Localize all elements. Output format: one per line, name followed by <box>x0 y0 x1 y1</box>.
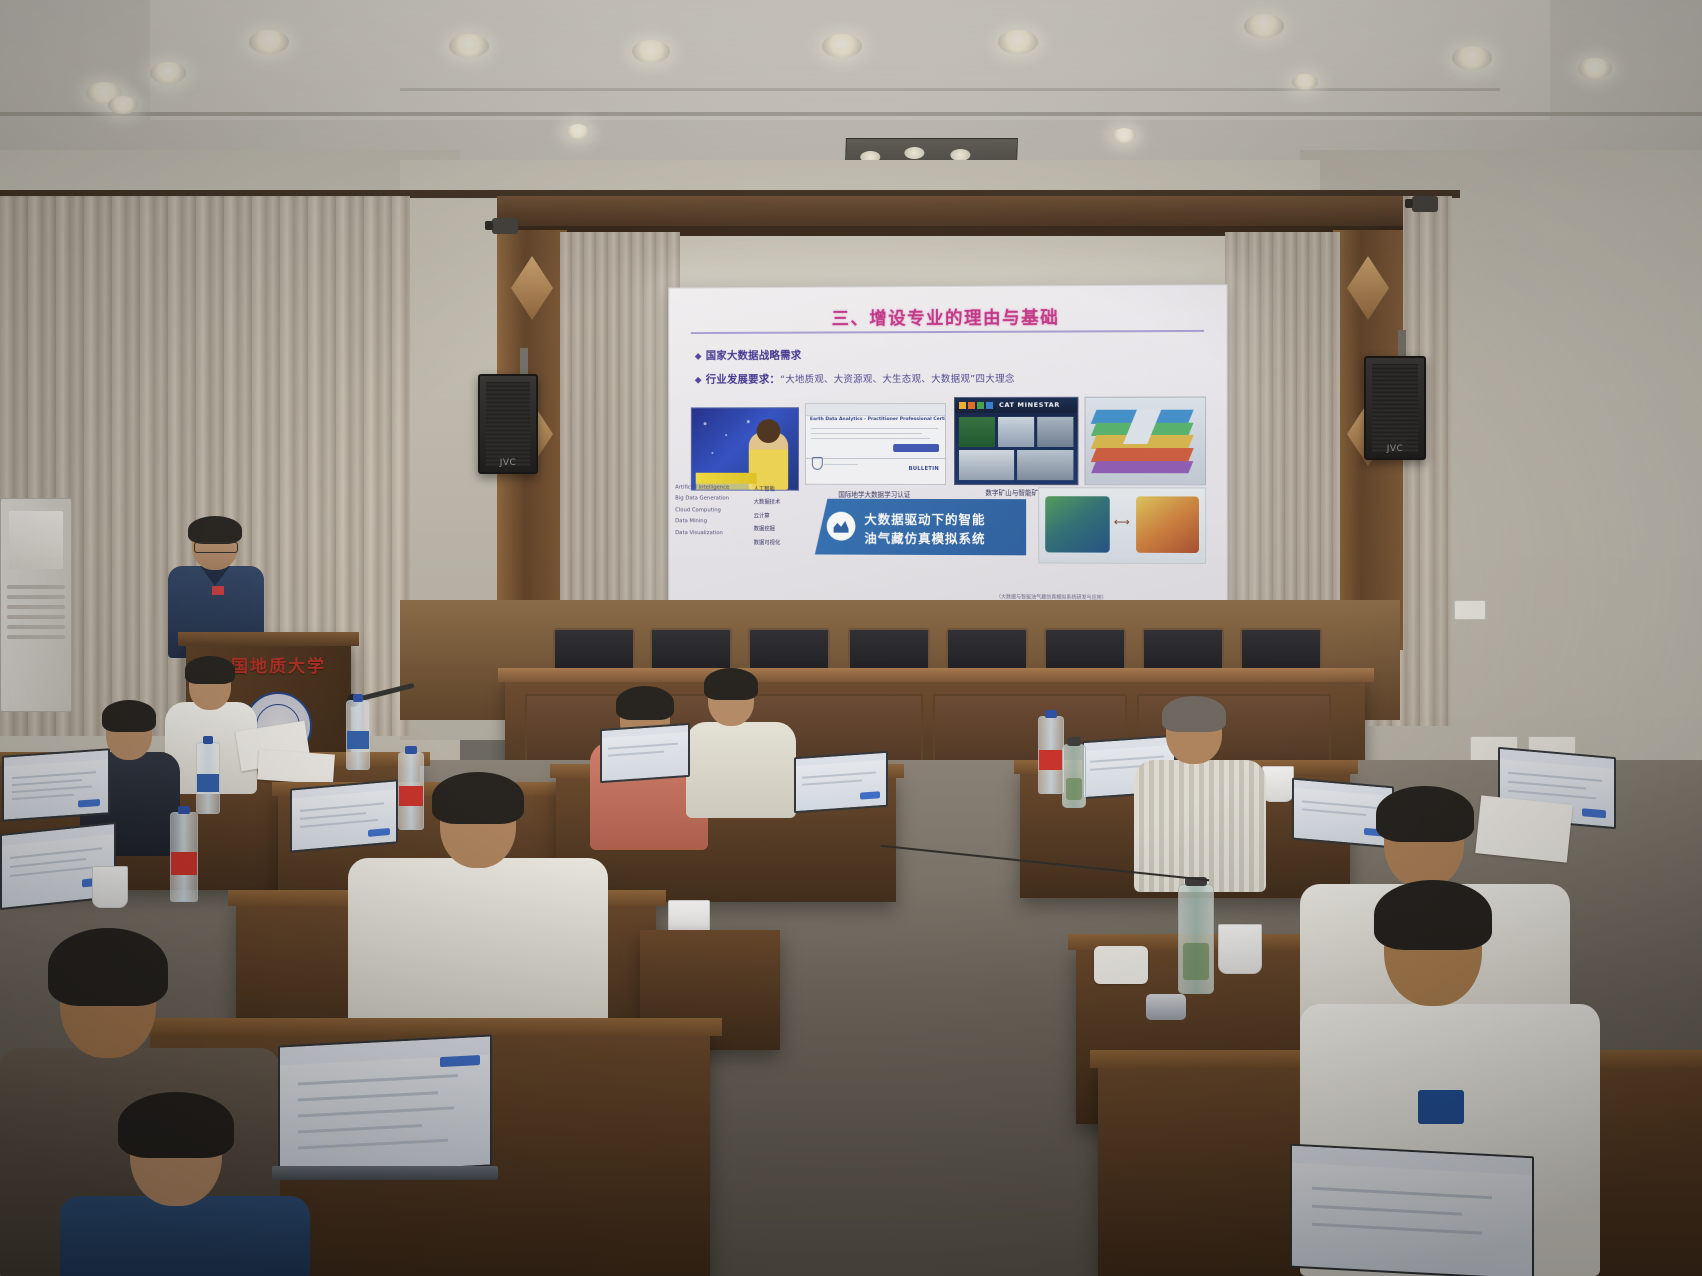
page-divider <box>806 458 945 459</box>
paper-cup[interactable] <box>1262 766 1294 802</box>
cat-color-chip <box>986 402 993 409</box>
slide-image-3d-geo-model <box>1085 397 1207 486</box>
water-bottle[interactable] <box>170 812 198 902</box>
cat-color-chip <box>959 402 966 409</box>
audience-person <box>686 672 796 812</box>
water-bottle[interactable] <box>346 700 370 770</box>
ceiling-downlight <box>249 30 289 54</box>
laptop-ui-row <box>1508 772 1602 782</box>
speaker-bracket-right <box>1398 330 1406 358</box>
conference-room-photo: JVC JVC 三、增设专业的理由与基础 ◆国家大数据战略需求 ◆行业发展要求：… <box>0 0 1702 1276</box>
audience-person <box>348 772 608 1022</box>
bottle-cap <box>405 746 417 754</box>
ceiling-downlight <box>1578 58 1612 79</box>
page-text-line <box>811 438 930 439</box>
bottle-cap <box>178 806 190 814</box>
laptop-ui-row <box>802 772 876 779</box>
laptop-ui-row <box>12 794 74 800</box>
person-hair <box>48 928 168 1006</box>
tea-tumbler[interactable] <box>1062 744 1086 808</box>
head-table-top <box>498 668 1374 682</box>
slide-bullet-2: ◆行业发展要求：“大地质观、大资源观、大生态观、大数据观”四大理念 <box>695 371 1015 387</box>
term-cn: 数据可视化 <box>754 538 813 546</box>
laptop-ui-button[interactable] <box>440 1055 480 1067</box>
person-hair <box>185 656 235 684</box>
slide-image-certificate-page: Earth Data Analytics - Practitioner Prof… <box>805 403 946 485</box>
cat-color-chip <box>968 402 975 409</box>
wall-speaker-right: JVC <box>1364 356 1426 460</box>
laptop-screen[interactable] <box>1290 1144 1534 1276</box>
slide-blue-banner: 大数据驱动下的智能 油气藏仿真模拟系统 <box>815 499 1026 556</box>
ac-vent <box>7 625 65 629</box>
laptop[interactable] <box>0 752 110 824</box>
slide-caption-1: 国际地学大数据学习认证 <box>809 489 940 499</box>
term-cn: 人工智能 <box>754 485 813 493</box>
tea-leaves <box>1066 778 1083 799</box>
page-text-line <box>811 428 938 429</box>
laptop-ui-header <box>1500 749 1614 768</box>
term-cn: 数据挖掘 <box>754 525 813 533</box>
laptop[interactable] <box>600 726 692 784</box>
tissue[interactable] <box>1094 946 1148 984</box>
bottle-cap <box>353 694 364 702</box>
laptop-ui-row <box>1312 1223 1482 1235</box>
person-hair <box>1374 880 1492 950</box>
decorative-sparkle <box>711 452 713 454</box>
tv-lower-third <box>696 473 757 484</box>
ceiling-downlight <box>1292 74 1318 90</box>
ac-vent <box>7 615 65 619</box>
lectern-top <box>178 632 359 646</box>
curtain-inner-left <box>560 232 680 632</box>
certificate-page-title: Earth Data Analytics - Practitioner Prof… <box>810 417 946 422</box>
speaker-grille <box>1372 364 1418 452</box>
security-camera-right <box>1412 196 1438 212</box>
laptop-ui-row <box>298 1074 458 1085</box>
laptop[interactable] <box>1290 1150 1540 1276</box>
shield-icon <box>812 457 823 470</box>
document-sheet[interactable] <box>257 749 335 784</box>
ac-vent <box>7 585 65 589</box>
slide-title: 三、增设专业的理由与基础 <box>669 304 1226 332</box>
slide-bullet-1-text: 国家大数据战略需求 <box>706 350 802 362</box>
term-cn: 云计算 <box>754 511 813 519</box>
laptop-ui-button[interactable] <box>860 791 880 799</box>
ceiling-downlight <box>1112 128 1136 143</box>
water-bottle[interactable] <box>1038 716 1064 794</box>
laptop-ui-button[interactable] <box>78 799 100 808</box>
laptop-ui-row <box>10 858 86 868</box>
laptop[interactable] <box>794 754 890 816</box>
wall-speaker-left: JVC <box>478 374 538 474</box>
slide-bullet-2-text: 行业发展要求： <box>706 373 780 385</box>
laptop-ui-row <box>10 847 102 859</box>
ac-vent <box>7 595 65 599</box>
reservoir-model-left <box>1045 496 1110 552</box>
slide-image-reservoir-simulation: ⟷ <box>1038 487 1206 564</box>
decorative-sparkle <box>747 420 750 423</box>
person-hair <box>704 668 758 700</box>
laptop-ui-row <box>1312 1205 1462 1216</box>
decorative-sparkle <box>704 422 707 425</box>
ac-vent <box>7 605 65 609</box>
tea-tumbler[interactable] <box>1178 884 1214 994</box>
ceiling-downlight <box>822 34 862 58</box>
presenter-hair <box>188 516 242 544</box>
presenter-glasses <box>194 542 238 553</box>
bottle-label <box>197 774 219 792</box>
water-bottle[interactable] <box>196 742 220 814</box>
browser-titlebar <box>806 404 945 416</box>
ac-display-panel <box>9 511 63 569</box>
laptop-ui-header <box>796 753 886 767</box>
bottle-cap <box>203 736 214 744</box>
laptop-ui-row <box>12 785 92 793</box>
person-hair <box>102 700 156 732</box>
analytics-icon <box>827 512 856 541</box>
mine-photo-tile <box>998 417 1034 447</box>
cat-minestar-label: CAT MINESTAR <box>999 401 1060 409</box>
ceiling-downlight <box>1452 46 1492 70</box>
banner-line-1: 大数据驱动下的智能 <box>864 509 985 528</box>
laptop-ui-row <box>12 779 82 786</box>
laptop-ui-row <box>1312 1187 1492 1199</box>
laptop-ui-header <box>602 725 688 738</box>
person-hair <box>118 1092 234 1158</box>
bottle-label <box>1039 750 1063 770</box>
geo-layer <box>1091 461 1193 473</box>
air-conditioner[interactable] <box>0 498 72 712</box>
ceiling-seam-mid <box>0 112 1702 116</box>
ceiling-seam-upper <box>400 88 1500 91</box>
laptop-ui-row <box>10 866 96 877</box>
mine-photo-tile <box>959 417 995 447</box>
term-cn: 大数据技术 <box>754 498 813 506</box>
presenter-badge <box>212 586 224 595</box>
bullet-diamond-icon: ◆ <box>695 376 702 386</box>
person-hair <box>432 772 524 824</box>
security-camera-left <box>492 218 518 234</box>
laptop-screen[interactable] <box>794 751 888 814</box>
reservoir-model-right <box>1136 496 1199 553</box>
double-arrow-icon: ⟷ <box>1114 518 1134 526</box>
bulletin-logo-text: BULLETIN <box>909 466 939 472</box>
ceiling-downlight <box>150 62 186 84</box>
person-torso <box>60 1196 310 1276</box>
wood-diamond-ornament <box>511 256 553 320</box>
ceiling-downlight <box>108 96 138 114</box>
slide-image-cat-minestar: CAT MINESTAR <box>954 397 1078 485</box>
curtain-inner-right <box>1225 232 1340 632</box>
ceiling-downlight <box>449 34 489 58</box>
paper-cup[interactable] <box>1218 924 1262 974</box>
person-torso <box>1134 760 1266 892</box>
projector-lamp <box>904 147 924 159</box>
laptop-ui-row <box>608 743 678 750</box>
person-hair <box>616 686 674 720</box>
cat-color-chip <box>977 402 984 409</box>
person-lanyard <box>1418 1090 1464 1124</box>
decorative-sparkle <box>725 434 727 436</box>
laptop-ui-row <box>12 771 96 779</box>
wood-diamond-ornament <box>1347 256 1389 320</box>
ceiling-downlight <box>566 124 590 139</box>
ceiling-downlight <box>1244 14 1284 38</box>
slide-bullet-2-quote: “大地质观、大资源观、大生态观、大数据观”四大理念 <box>780 374 1015 386</box>
page-text-line <box>824 464 858 465</box>
bottle-label <box>347 731 369 749</box>
page-text-line <box>811 433 922 434</box>
laptop-ui-row <box>298 1106 454 1117</box>
laptop-ui-row <box>298 1124 422 1133</box>
laptop-screen[interactable] <box>2 748 110 822</box>
slide-term-list-cn: 人工智能 大数据技术 云计算 数据挖掘 数据可视化 <box>754 485 813 552</box>
person-torso <box>686 722 796 818</box>
banner-line-2: 油气藏仿真模拟系统 <box>864 528 985 547</box>
laptop-ui-row <box>298 1139 448 1150</box>
projection-screen[interactable]: 三、增设专业的理由与基础 ◆国家大数据战略需求 ◆行业发展要求：“大地质观、大资… <box>668 284 1227 605</box>
mine-photo-tile <box>959 450 1014 480</box>
speaker-brand-label: JVC <box>500 458 517 468</box>
laptop-ui-header <box>1292 1146 1532 1175</box>
stage-header-beam <box>497 196 1403 230</box>
laptop-ui-header <box>4 750 108 766</box>
bullet-diamond-icon: ◆ <box>695 352 702 362</box>
person-hair <box>1162 696 1226 732</box>
laptop-screen[interactable] <box>600 723 690 783</box>
slide-bullet-1: ◆国家大数据战略需求 <box>695 348 802 363</box>
tea-leaves <box>1183 943 1209 980</box>
speaker-grille <box>486 382 530 466</box>
wall-sign <box>1454 600 1486 620</box>
person-torso <box>348 858 608 1028</box>
ac-vent <box>7 635 65 639</box>
ceiling-downlight <box>998 30 1038 54</box>
paper-cup[interactable] <box>92 866 128 908</box>
audience-person <box>1134 698 1266 888</box>
laptop-ui-header <box>2 824 114 846</box>
tumbler-lid <box>1067 737 1081 746</box>
laptop[interactable] <box>278 1040 498 1180</box>
speaker-brand-label: JVC <box>1387 444 1404 454</box>
geo-layer <box>1091 448 1194 462</box>
laptop-ui-row <box>608 751 664 757</box>
wristwatch <box>1146 994 1186 1020</box>
laptop-screen[interactable] <box>278 1034 492 1177</box>
laptop-ui-button[interactable] <box>1582 808 1606 818</box>
laptop-ui-row <box>298 1091 438 1101</box>
mine-photo-tile <box>1037 417 1073 447</box>
speaker-bracket-left <box>520 348 528 376</box>
ceiling-downlight <box>632 40 670 63</box>
certificate-cta-button[interactable] <box>893 444 939 452</box>
ceiling-recess <box>150 0 1550 120</box>
person-hair <box>1376 786 1474 842</box>
bottle-label <box>171 852 197 875</box>
mine-photo-tile <box>1017 450 1073 480</box>
bottle-cap <box>1045 710 1057 718</box>
audience-person <box>60 1092 310 1276</box>
slide-image-tv-broadcast <box>691 407 799 491</box>
laptop-ui-row <box>802 780 862 786</box>
